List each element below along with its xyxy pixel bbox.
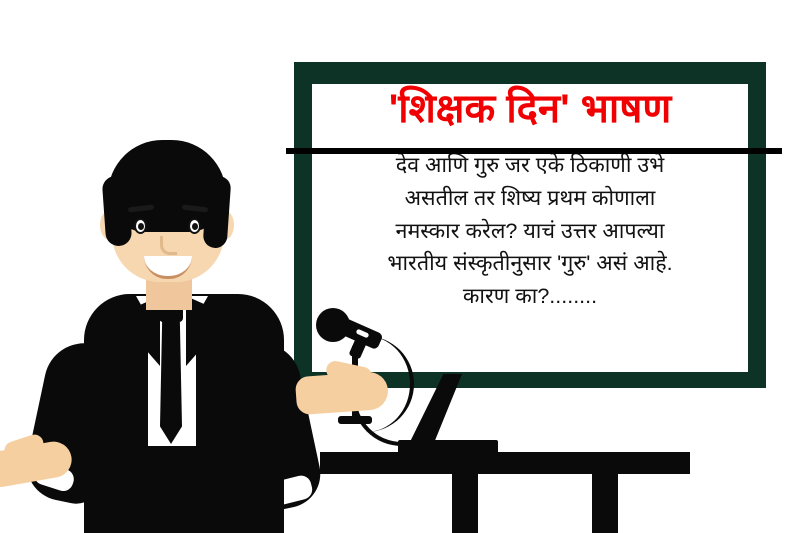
board-title: 'शिक्षक दिन' भाषण bbox=[389, 84, 672, 133]
body-line-4: भारतीय संस्कृतीनुसार 'गुरु' असं आहे. bbox=[321, 247, 740, 280]
poster-canvas: 'शिक्षक दिन' भाषण देव आणि गुरु जर एके ठि… bbox=[0, 0, 800, 533]
board-surface: 'शिक्षक दिन' भाषण देव आणि गुरु जर एके ठि… bbox=[312, 84, 748, 372]
body-line-3: नमस्कार करेल? याचं उत्तर आपल्या bbox=[321, 215, 740, 248]
desk-leg-right bbox=[592, 474, 618, 533]
pupil-left bbox=[138, 223, 144, 230]
hair-side-right bbox=[203, 175, 232, 248]
body-line-2: असतील तर शिष्य प्रथम कोणाला bbox=[321, 182, 740, 215]
desk-top bbox=[320, 452, 690, 474]
right-hand bbox=[295, 371, 389, 415]
board-body-text: देव आणि गुरु जर एके ठिकाणी उभे असतील तर … bbox=[321, 149, 740, 312]
speaker-figure bbox=[0, 128, 360, 533]
pupil-right bbox=[192, 223, 198, 230]
desk-leg-left bbox=[452, 474, 478, 533]
nose bbox=[160, 236, 177, 255]
body-line-5: कारण का?........ bbox=[321, 280, 740, 313]
body-line-1: देव आणि गुरु जर एके ठिकाणी उभे bbox=[321, 149, 740, 182]
title-divider-rule bbox=[286, 148, 782, 154]
necktie bbox=[160, 318, 182, 444]
